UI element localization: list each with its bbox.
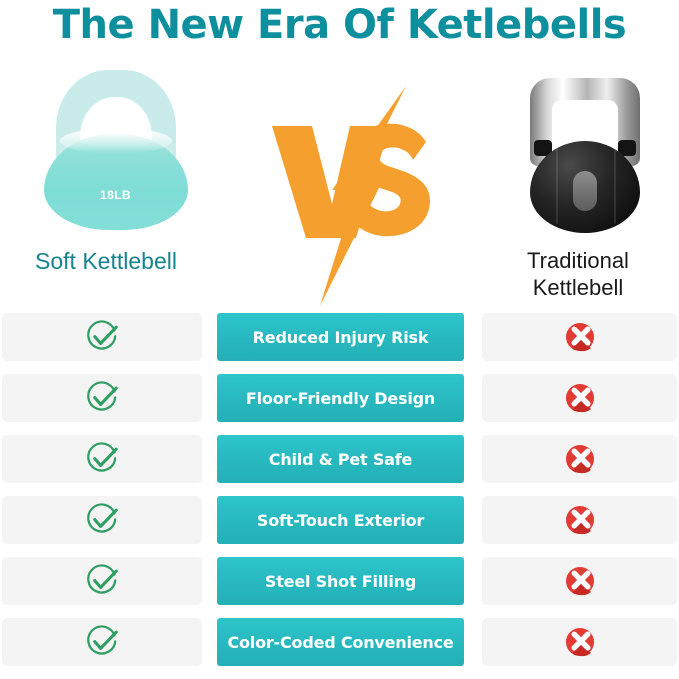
soft-kettlebell-verdict-cell (2, 496, 202, 544)
comparison-rows: Reduced Injury Risk Floor-Friendly D (0, 313, 679, 679)
soft-kettlebell-weight-label: 18LB (38, 188, 193, 202)
traditional-kettlebell-verdict-cell (482, 435, 677, 483)
vs-lightning-icon (258, 86, 443, 306)
traditional-kettlebell-verdict-cell (482, 618, 677, 666)
feature-label-box: Child & Pet Safe (217, 435, 464, 483)
feature-label: Steel Shot Filling (265, 572, 416, 591)
feature-label: Color-Coded Convenience (227, 633, 453, 652)
soft-kettlebell-verdict-cell (2, 313, 202, 361)
cross-circle-icon (564, 321, 596, 353)
check-circle-icon (84, 624, 120, 660)
soft-kettlebell-verdict-cell (2, 374, 202, 422)
soft-kettlebell-verdict-cell (2, 435, 202, 483)
comparison-row-2: Child & Pet Safe (0, 435, 679, 483)
traditional-kettlebell-seam-right (614, 148, 616, 224)
traditional-kettlebell-verdict-cell (482, 557, 677, 605)
feature-label-box: Steel Shot Filling (217, 557, 464, 605)
cross-circle-icon (564, 565, 596, 597)
page-title: The New Era Of Ketlebells (0, 2, 679, 48)
feature-label-box: Floor-Friendly Design (217, 374, 464, 422)
feature-label-box: Soft-Touch Exterior (217, 496, 464, 544)
soft-kettlebell-verdict-cell (2, 618, 202, 666)
feature-label: Soft-Touch Exterior (257, 511, 424, 530)
cross-circle-icon (564, 626, 596, 658)
comparison-row-0: Reduced Injury Risk (0, 313, 679, 361)
feature-label: Reduced Injury Risk (253, 328, 429, 347)
check-circle-icon (84, 380, 120, 416)
right-column-caption-line1: Traditional (478, 247, 678, 274)
right-column-caption-line2: Kettlebell (478, 274, 678, 301)
feature-label-box: Reduced Injury Risk (217, 313, 464, 361)
check-circle-icon (84, 441, 120, 477)
left-column-caption: Soft Kettlebell (6, 248, 206, 275)
traditional-kettlebell-illustration (512, 78, 657, 233)
soft-kettlebell-illustration: 18LB (38, 70, 193, 230)
traditional-kettlebell-verdict-cell (482, 374, 677, 422)
check-circle-icon (84, 563, 120, 599)
comparison-row-5: Color-Coded Convenience (0, 618, 679, 666)
comparison-row-1: Floor-Friendly Design (0, 374, 679, 422)
soft-kettlebell-verdict-cell (2, 557, 202, 605)
cross-circle-icon (564, 382, 596, 414)
cross-circle-icon (564, 443, 596, 475)
traditional-kettlebell-seam-left (556, 148, 558, 224)
comparison-row-4: Steel Shot Filling (0, 557, 679, 605)
comparison-row-3: Soft-Touch Exterior (0, 496, 679, 544)
feature-label: Floor-Friendly Design (246, 389, 435, 408)
check-circle-icon (84, 319, 120, 355)
check-circle-icon (84, 502, 120, 538)
traditional-kettlebell-verdict-cell (482, 496, 677, 544)
traditional-kettlebell-plate (573, 171, 597, 211)
feature-label: Child & Pet Safe (269, 450, 412, 469)
soft-kettlebell-highlight (60, 128, 172, 154)
traditional-kettlebell-verdict-cell (482, 313, 677, 361)
right-column-caption: Traditional Kettlebell (478, 247, 678, 301)
cross-circle-icon (564, 504, 596, 536)
feature-label-box: Color-Coded Convenience (217, 618, 464, 666)
